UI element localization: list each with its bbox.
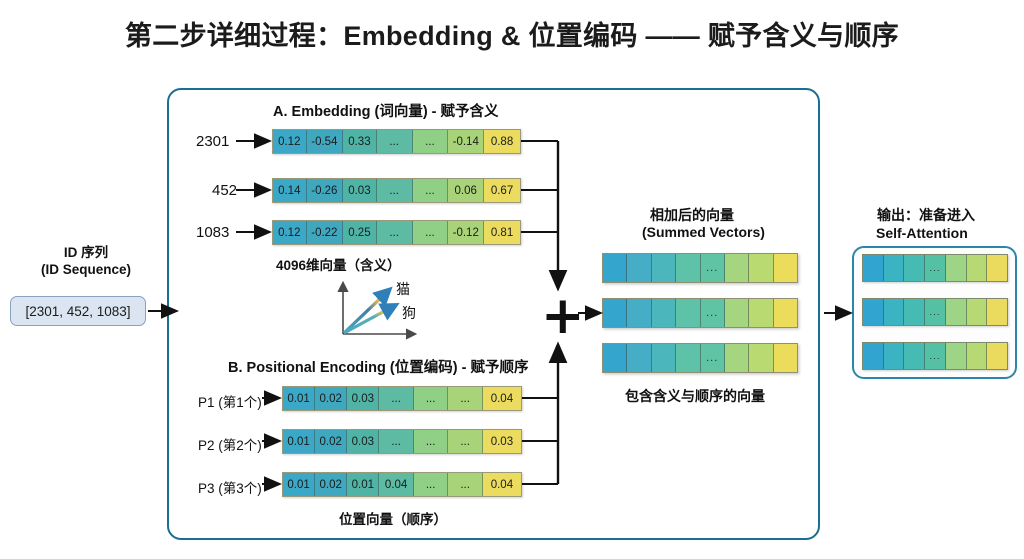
- vector-cell: ...: [448, 473, 483, 496]
- vector-cell: [725, 299, 749, 327]
- embedding-row-label-0: 2301: [196, 133, 229, 150]
- vector-cell: ...: [377, 179, 413, 202]
- summed-title-en: (Summed Vectors): [642, 224, 765, 240]
- vector-cell: [987, 255, 1007, 281]
- positional-vector-row: 0.010.020.03.........0.04: [282, 386, 522, 411]
- vector-cell: [946, 343, 967, 369]
- vector-cell: ...: [448, 387, 483, 410]
- vector-cell: [627, 344, 651, 372]
- positional-row-label-0: P1 (第1个): [198, 391, 262, 411]
- embedding-row-label-1: 452: [212, 182, 237, 199]
- sum-operator: +: [541, 290, 585, 342]
- vector-cell: [967, 299, 988, 325]
- vector-cell: 0.01: [283, 387, 315, 410]
- vector-cell: 0.03: [343, 179, 377, 202]
- id-sequence-title-en: (ID Sequence): [6, 261, 166, 278]
- vector-cell: [627, 254, 651, 282]
- positional-row-label-2: P3 (第3个): [198, 477, 262, 497]
- vector-cell: ...: [925, 343, 946, 369]
- vector-cell: [725, 344, 749, 372]
- output-title-line2: Self-Attention: [876, 225, 968, 241]
- vector-cell: ...: [413, 130, 449, 153]
- vector-cell: ...: [413, 221, 449, 244]
- page-title: 第二步详细过程：Embedding & 位置编码 —— 赋予含义与顺序: [0, 14, 1024, 53]
- vector-cell: 0.04: [379, 473, 414, 496]
- id-sequence-title-cn: ID 序列: [6, 244, 166, 261]
- vector-cell: 0.81: [484, 221, 520, 244]
- vector-cell: 0.88: [484, 130, 520, 153]
- vector-cell: 0.25: [343, 221, 377, 244]
- id-sequence-value: [2301, 452, 1083]: [25, 304, 130, 319]
- positional-row-label-1: P2 (第2个): [198, 434, 262, 454]
- vector-cell: 0.67: [484, 179, 520, 202]
- vector-cell: [652, 254, 676, 282]
- vector-cell: -0.12: [448, 221, 484, 244]
- vector-cell: 0.03: [483, 430, 521, 453]
- vector-cell: [749, 344, 773, 372]
- embedding-vector-row: 0.12-0.220.25......-0.120.81: [272, 220, 521, 245]
- vector-cell: ...: [925, 255, 946, 281]
- output-vector-row: ...: [862, 298, 1008, 326]
- vector-cell: 0.06: [448, 179, 484, 202]
- vector-cell: [863, 299, 884, 325]
- vector-cell: [749, 299, 773, 327]
- vector-cell: [652, 299, 676, 327]
- vector-cell: [967, 255, 988, 281]
- vector-chart-label-cat: 猫: [396, 281, 410, 297]
- vector-cell: ...: [414, 473, 449, 496]
- vector-cell: [987, 299, 1007, 325]
- vector-cell: [749, 254, 773, 282]
- vector-cell: 0.02: [315, 430, 347, 453]
- vector-cell: ...: [377, 130, 413, 153]
- vector-cell: 0.04: [483, 387, 521, 410]
- positional-vector-row: 0.010.020.010.04......0.04: [282, 472, 522, 497]
- embedding-row-label-2: 1083: [196, 224, 229, 241]
- id-sequence-box: [2301, 452, 1083]: [10, 296, 146, 326]
- vector-cell: [774, 299, 797, 327]
- vector-cell: -0.22: [307, 221, 344, 244]
- diagram-canvas: 第二步详细过程：Embedding & 位置编码 —— 赋予含义与顺序 ID 序…: [0, 0, 1024, 559]
- semantic-vector-chart: 猫 狗: [336, 278, 466, 344]
- vector-cell: ...: [377, 221, 413, 244]
- vector-cell: 0.12: [273, 221, 307, 244]
- summed-vector-row: ...: [602, 253, 798, 283]
- output-title-line1: 输出：准备进入: [877, 205, 975, 225]
- positional-section-title: B. Positional Encoding (位置编码) - 赋予顺序: [228, 356, 528, 377]
- vector-cell: [725, 254, 749, 282]
- vector-cell: 0.14: [273, 179, 307, 202]
- vector-cell: ...: [414, 387, 449, 410]
- vector-cell: [904, 255, 925, 281]
- vector-cell: [884, 343, 905, 369]
- vector-cell: 0.01: [283, 473, 315, 496]
- id-sequence-title: ID 序列 (ID Sequence): [6, 244, 166, 278]
- vector-cell: [774, 254, 797, 282]
- vector-chart-label-dog: 狗: [402, 305, 416, 321]
- vector-cell: [627, 299, 651, 327]
- vector-cell: ...: [414, 430, 449, 453]
- vector-cell: ...: [379, 387, 414, 410]
- vector-cell: 0.03: [347, 387, 379, 410]
- vector-cell: ...: [925, 299, 946, 325]
- vector-cell: [884, 255, 905, 281]
- embedding-vector-row: 0.14-0.260.03......0.060.67: [272, 178, 521, 203]
- vector-cell: 0.04: [483, 473, 521, 496]
- vector-cell: [603, 344, 627, 372]
- positional-caption: 位置向量（顺序）: [339, 508, 447, 528]
- vector-cell: [884, 299, 905, 325]
- summed-caption: 包含含义与顺序的向量: [625, 386, 765, 406]
- vector-cell: [967, 343, 988, 369]
- vector-cell: ...: [413, 179, 449, 202]
- vector-cell: [774, 344, 797, 372]
- vector-cell: [863, 255, 884, 281]
- vector-cell: [603, 254, 627, 282]
- vector-cell: ...: [701, 254, 725, 282]
- vector-cell: -0.54: [307, 130, 344, 153]
- vector-cell: ...: [379, 430, 414, 453]
- vector-cell: [904, 299, 925, 325]
- embedding-vector-row: 0.12-0.540.33......-0.140.88: [272, 129, 521, 154]
- vector-cell: 0.33: [343, 130, 377, 153]
- vector-cell: [987, 343, 1007, 369]
- vector-cell: [863, 343, 884, 369]
- output-vector-row: ...: [862, 254, 1008, 282]
- vector-cell: -0.14: [448, 130, 484, 153]
- vector-cell: [652, 344, 676, 372]
- vector-cell: [946, 255, 967, 281]
- vector-cell: 0.02: [315, 473, 347, 496]
- summed-vector-row: ...: [602, 343, 798, 373]
- vector-cell: ...: [448, 430, 483, 453]
- vector-cell: 0.01: [347, 473, 379, 496]
- vector-cell: ...: [701, 344, 725, 372]
- vector-cell: 0.02: [315, 387, 347, 410]
- summed-vector-row: ...: [602, 298, 798, 328]
- vector-cell: 0.03: [347, 430, 379, 453]
- vector-cell: 0.12: [273, 130, 307, 153]
- vector-cell: [946, 299, 967, 325]
- embedding-section-title: A. Embedding (词向量) - 赋予含义: [273, 100, 499, 121]
- summed-title-cn: 相加后的向量: [650, 205, 734, 225]
- positional-vector-row: 0.010.020.03.........0.03: [282, 429, 522, 454]
- vector-cell: [603, 299, 627, 327]
- vector-cell: -0.26: [307, 179, 344, 202]
- vector-cell: [676, 344, 700, 372]
- vector-cell: 0.01: [283, 430, 315, 453]
- vector-cell: [676, 299, 700, 327]
- output-vector-row: ...: [862, 342, 1008, 370]
- vector-cell: [676, 254, 700, 282]
- embedding-caption: 4096维向量（含义）: [276, 254, 401, 274]
- vector-cell: ...: [701, 299, 725, 327]
- vector-cell: [904, 343, 925, 369]
